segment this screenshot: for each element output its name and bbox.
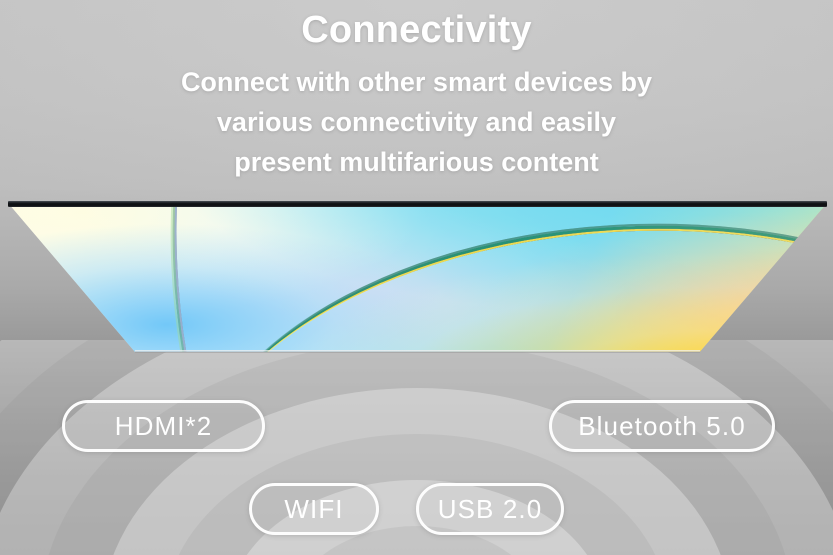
badge-usb-label: USB 2.0 — [438, 494, 543, 525]
badge-bluetooth-label: Bluetooth 5.0 — [578, 411, 746, 442]
badge-wifi[interactable]: WIFI — [249, 483, 379, 535]
subtitle-line-1: Connect with other smart devices by — [181, 67, 652, 97]
badge-hdmi-label: HDMI*2 — [115, 411, 213, 442]
tv-bezel-bottom — [135, 350, 700, 353]
badge-usb[interactable]: USB 2.0 — [416, 483, 564, 535]
badge-hdmi[interactable]: HDMI*2 — [62, 400, 265, 452]
connectivity-feature-panel: Connectivity Connect with other smart de… — [0, 0, 833, 555]
page-title: Connectivity — [0, 0, 833, 54]
subtitle-line-3: present multifarious content — [234, 147, 599, 177]
badge-bluetooth[interactable]: Bluetooth 5.0 — [549, 400, 775, 452]
tv-edge-left — [5, 203, 145, 353]
badge-wifi-label: WIFI — [284, 494, 343, 525]
smart-tv — [0, 196, 833, 361]
page-subtitle: Connect with other smart devices by vari… — [107, 62, 727, 182]
header-block: Connectivity Connect with other smart de… — [0, 0, 833, 182]
tv-bezel-top — [8, 201, 827, 207]
subtitle-line-2: various connectivity and easily — [217, 107, 616, 137]
tv-edge-right — [688, 203, 828, 353]
